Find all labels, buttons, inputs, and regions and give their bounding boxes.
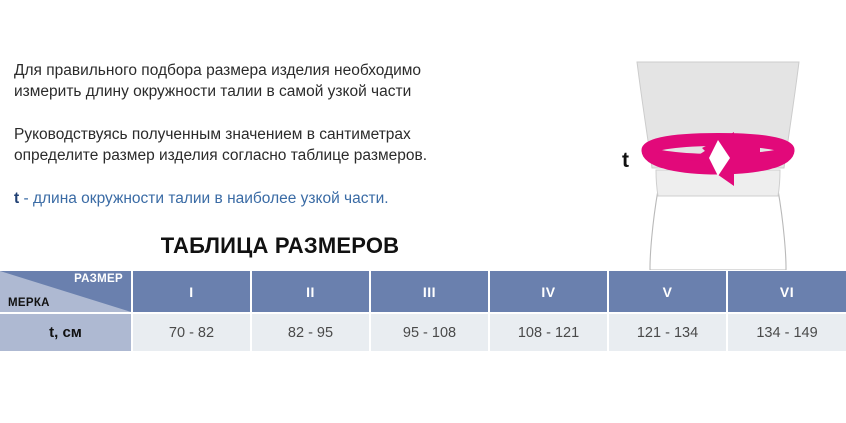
cell-size-6: 134 - 149 bbox=[727, 313, 846, 351]
legs-shape bbox=[650, 190, 786, 270]
instructions-block: Для правильного подбора размера изделия … bbox=[14, 60, 514, 209]
table-header: РАЗМЕР МЕРКА I II III IV V VI bbox=[0, 271, 846, 313]
instruction-paragraph-2: Руководствуясь полученным значением в са… bbox=[14, 124, 514, 166]
column-header-4: IV bbox=[489, 271, 608, 313]
cell-size-5: 121 - 134 bbox=[608, 313, 727, 351]
column-header-1: I bbox=[132, 271, 251, 313]
column-header-2: II bbox=[251, 271, 370, 313]
legend-description: - длина окружности талии в наиболее узко… bbox=[19, 190, 388, 207]
row-label-waist: t, см bbox=[0, 313, 132, 351]
column-header-6: VI bbox=[727, 271, 846, 313]
cell-size-3: 95 - 108 bbox=[370, 313, 489, 351]
legend-line: t - длина окружности талии в наиболее уз… bbox=[14, 188, 514, 209]
table-row: t, см 70 - 82 82 - 95 95 - 108 108 - 121… bbox=[0, 313, 846, 351]
cell-size-1: 70 - 82 bbox=[132, 313, 251, 351]
size-table: РАЗМЕР МЕРКА I II III IV V VI t, см 70 -… bbox=[0, 271, 846, 351]
table-header-row: РАЗМЕР МЕРКА I II III IV V VI bbox=[0, 271, 846, 313]
column-header-5: V bbox=[608, 271, 727, 313]
cell-size-4: 108 - 121 bbox=[489, 313, 608, 351]
measurement-marker-t: t bbox=[622, 149, 629, 173]
corner-row-axis-label: МЕРКА bbox=[8, 297, 50, 309]
column-header-3: III bbox=[370, 271, 489, 313]
table-title: ТАБЛИЦА РАЗМЕРОВ bbox=[0, 233, 560, 259]
table-body: t, см 70 - 82 82 - 95 95 - 108 108 - 121… bbox=[0, 313, 846, 351]
size-chart-page: Для правильного подбора размера изделия … bbox=[0, 0, 846, 423]
waist-measurement-illustration: t bbox=[590, 40, 846, 270]
instruction-paragraph-1: Для правильного подбора размера изделия … bbox=[14, 60, 514, 102]
corner-column-axis-label: РАЗМЕР bbox=[74, 273, 123, 285]
table-corner-cell: РАЗМЕР МЕРКА bbox=[0, 271, 132, 313]
cell-size-2: 82 - 95 bbox=[251, 313, 370, 351]
